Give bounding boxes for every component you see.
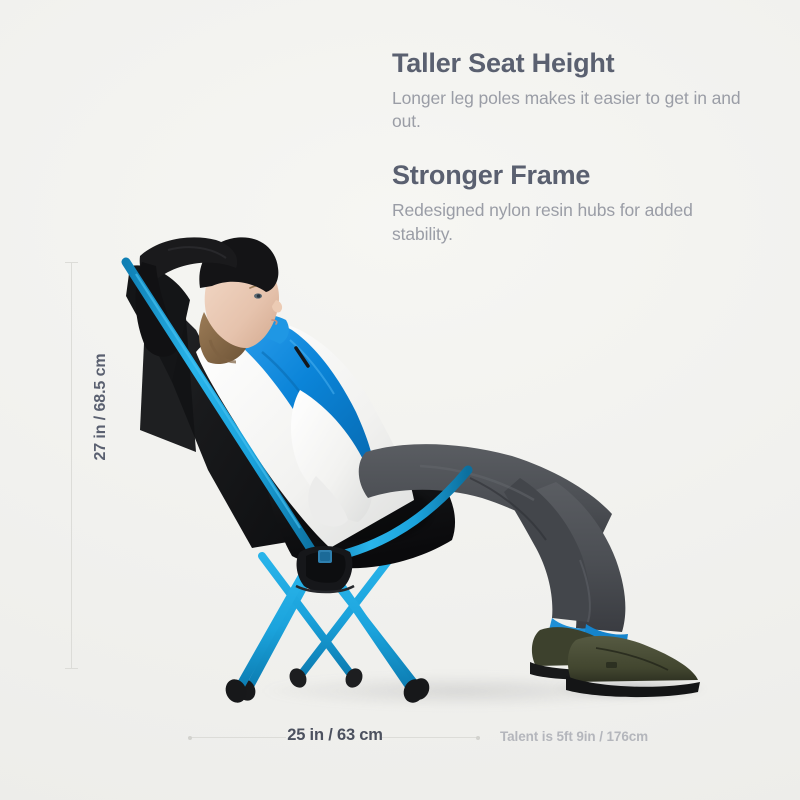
- feature-copy-column: Taller Seat Height Longer leg poles make…: [392, 48, 744, 246]
- product-feature-image: Helinox: [0, 0, 800, 800]
- width-line-left-segment: [188, 737, 286, 738]
- height-dimension-label: 27 in / 68.5 cm: [92, 347, 110, 467]
- feature-body: Longer leg poles makes it easier to get …: [392, 87, 744, 134]
- talent-height-note: Talent is 5ft 9in / 176cm: [500, 729, 648, 744]
- width-dimension-tick-left: [188, 736, 192, 740]
- width-dimension-label: 25 in / 63 cm: [280, 726, 390, 745]
- width-dimension-tick-right: [476, 736, 480, 740]
- nylon-resin-hub: [296, 546, 354, 592]
- feature-block-taller-seat-height: Taller Seat Height Longer leg poles make…: [392, 48, 744, 134]
- feature-body: Redesigned nylon resin hubs for added st…: [392, 199, 744, 246]
- feature-title: Stronger Frame: [392, 160, 744, 192]
- feature-title: Taller Seat Height: [392, 48, 744, 80]
- height-dimension-tick-top: [65, 262, 78, 263]
- feature-block-stronger-frame: Stronger Frame Redesigned nylon resin hu…: [392, 160, 744, 246]
- height-dimension-line: [71, 262, 72, 668]
- olive-shoes: [530, 627, 700, 697]
- height-dimension-tick-bottom: [65, 668, 78, 669]
- width-line-right-segment: [382, 737, 480, 738]
